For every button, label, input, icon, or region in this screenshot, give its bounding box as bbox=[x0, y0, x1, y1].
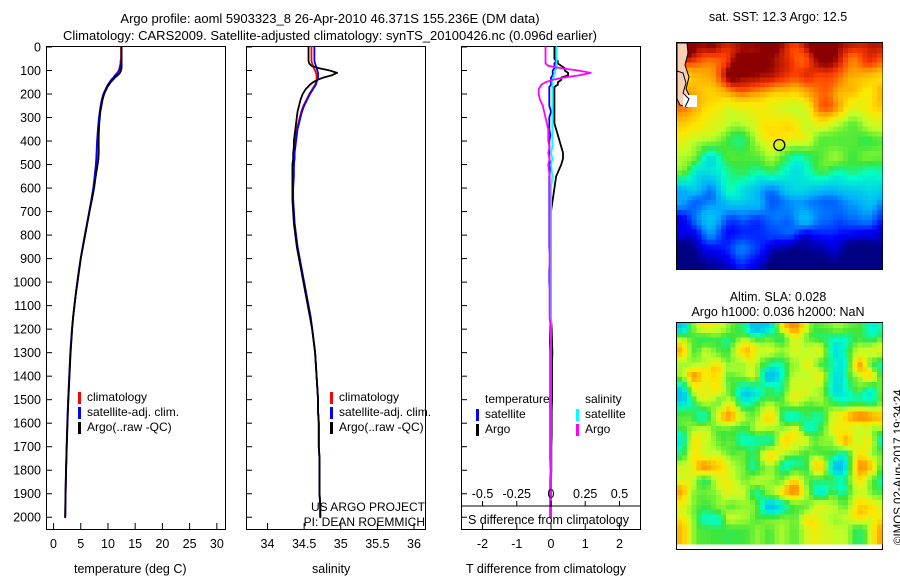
svg-text:34.5: 34.5 bbox=[292, 537, 316, 551]
svg-text:1900: 1900 bbox=[13, 487, 41, 501]
svg-text:1400: 1400 bbox=[13, 370, 41, 384]
color-swatch bbox=[78, 422, 81, 434]
svg-text:-1: -1 bbox=[511, 537, 522, 551]
difference-legend-salinity: salinity satellite Argo bbox=[576, 392, 626, 437]
svg-text:600: 600 bbox=[20, 182, 41, 196]
sst-map-panel bbox=[676, 42, 883, 270]
svg-text:0: 0 bbox=[548, 537, 555, 551]
color-swatch bbox=[78, 407, 81, 419]
legend-label: Argo(..raw -QC) bbox=[339, 420, 424, 435]
sla-map bbox=[677, 323, 882, 549]
svg-text:10: 10 bbox=[101, 537, 115, 551]
svg-text:0: 0 bbox=[50, 537, 57, 551]
salinity-plot bbox=[247, 47, 425, 529]
legend-item: Argo bbox=[576, 422, 626, 437]
legend-item: Argo(..raw -QC) bbox=[78, 420, 179, 435]
project-credit: US ARGO PROJECT PI: DEAN ROEMMICH bbox=[265, 500, 425, 530]
color-swatch bbox=[330, 392, 333, 404]
legend-label: satellite-adj. clim. bbox=[87, 405, 179, 420]
spacer bbox=[476, 394, 479, 406]
svg-text:2: 2 bbox=[616, 537, 623, 551]
legend-label: satellite-adj. clim. bbox=[339, 405, 431, 420]
legend-label: Argo(..raw -QC) bbox=[87, 420, 172, 435]
salinity-difference-axis-label: S difference from climatology bbox=[468, 513, 629, 527]
color-swatch bbox=[476, 409, 479, 421]
svg-text:35: 35 bbox=[334, 537, 348, 551]
salinity-legend: climatology satellite-adj. clim. Argo(..… bbox=[330, 390, 431, 435]
legend-item: Argo(..raw -QC) bbox=[330, 420, 431, 435]
difference-legend-temperature: temperature satellite Argo bbox=[476, 392, 550, 437]
temperature-legend: climatology satellite-adj. clim. Argo(..… bbox=[78, 390, 179, 435]
svg-text:36: 36 bbox=[407, 537, 421, 551]
color-swatch bbox=[476, 424, 479, 436]
sla-title-line-2: Argo h1000: 0.036 h2000: NaN bbox=[664, 305, 892, 320]
svg-text:34: 34 bbox=[261, 537, 275, 551]
svg-text:700: 700 bbox=[20, 205, 41, 219]
svg-text:20: 20 bbox=[155, 537, 169, 551]
title-line-1: Argo profile: aoml 5903323_8 26-Apr-2010… bbox=[0, 10, 660, 27]
title-line-2: Climatology: CARS2009. Satellite-adjuste… bbox=[0, 27, 660, 44]
svg-text:-2: -2 bbox=[477, 537, 488, 551]
color-swatch bbox=[576, 409, 579, 421]
svg-text:1500: 1500 bbox=[13, 393, 41, 407]
svg-text:500: 500 bbox=[20, 158, 41, 172]
difference-panel bbox=[461, 46, 641, 530]
argo-profile-figure: Argo profile: aoml 5903323_8 26-Apr-2010… bbox=[0, 0, 900, 580]
sla-map-panel bbox=[676, 322, 883, 550]
legend-label: climatology bbox=[87, 390, 147, 405]
sla-title-line-1: Altim. SLA: 0.028 bbox=[664, 290, 892, 305]
spacer bbox=[576, 394, 579, 406]
legend-item: satellite bbox=[476, 407, 550, 422]
svg-text:1100: 1100 bbox=[14, 299, 41, 313]
legend-label: salinity bbox=[585, 392, 622, 407]
svg-text:1000: 1000 bbox=[13, 276, 41, 290]
color-swatch bbox=[576, 424, 579, 436]
legend-item: climatology bbox=[78, 390, 179, 405]
color-swatch bbox=[330, 407, 333, 419]
legend-label: temperature bbox=[485, 392, 550, 407]
legend-label: climatology bbox=[339, 390, 399, 405]
svg-text:800: 800 bbox=[20, 229, 41, 243]
svg-text:1800: 1800 bbox=[13, 464, 41, 478]
difference-plot bbox=[462, 47, 640, 529]
color-swatch bbox=[78, 392, 81, 404]
legend-item: climatology bbox=[330, 390, 431, 405]
salinity-axis-label: salinity bbox=[312, 562, 350, 576]
legend-header: temperature bbox=[476, 392, 550, 407]
svg-text:300: 300 bbox=[20, 111, 41, 125]
svg-text:1300: 1300 bbox=[13, 346, 41, 360]
svg-text:5: 5 bbox=[77, 537, 84, 551]
svg-text:100: 100 bbox=[20, 64, 41, 78]
legend-label: satellite bbox=[485, 407, 526, 422]
svg-text:1: 1 bbox=[582, 537, 589, 551]
svg-text:1700: 1700 bbox=[13, 440, 41, 454]
legend-item: satellite bbox=[576, 407, 626, 422]
sla-map-title: Altim. SLA: 0.028 Argo h1000: 0.036 h200… bbox=[664, 290, 892, 320]
temperature-difference-axis-label: T difference from climatology bbox=[466, 562, 626, 576]
legend-label: Argo bbox=[585, 422, 610, 437]
temperature-panel bbox=[46, 46, 226, 530]
svg-text:400: 400 bbox=[20, 135, 41, 149]
legend-item: Argo bbox=[476, 422, 550, 437]
figure-title: Argo profile: aoml 5903323_8 26-Apr-2010… bbox=[0, 10, 660, 44]
sst-map bbox=[677, 43, 882, 269]
legend-header: salinity bbox=[576, 392, 626, 407]
legend-label: Argo bbox=[485, 422, 510, 437]
temperature-plot bbox=[47, 47, 225, 529]
svg-text:1200: 1200 bbox=[13, 323, 41, 337]
sst-map-title: sat. SST: 12.3 Argo: 12.5 bbox=[672, 10, 884, 25]
credit-line-2: PI: DEAN ROEMMICH bbox=[265, 515, 425, 530]
svg-text:35.5: 35.5 bbox=[365, 537, 389, 551]
svg-text:200: 200 bbox=[20, 88, 41, 102]
svg-text:900: 900 bbox=[20, 252, 41, 266]
color-swatch bbox=[330, 422, 333, 434]
legend-item: satellite-adj. clim. bbox=[330, 405, 431, 420]
legend-item: satellite-adj. clim. bbox=[78, 405, 179, 420]
salinity-panel bbox=[246, 46, 426, 530]
sst-title-text: sat. SST: 12.3 Argo: 12.5 bbox=[672, 10, 884, 25]
svg-text:2000: 2000 bbox=[13, 511, 41, 525]
temperature-axis-label: temperature (deg C) bbox=[74, 562, 187, 576]
legend-label: satellite bbox=[585, 407, 626, 422]
imos-timestamp: ©IMOS 02-Aug-2017 19:34:24 bbox=[893, 389, 900, 545]
svg-text:15: 15 bbox=[128, 537, 142, 551]
credit-line-1: US ARGO PROJECT bbox=[265, 500, 425, 515]
svg-text:1600: 1600 bbox=[13, 417, 41, 431]
svg-text:30: 30 bbox=[210, 537, 224, 551]
svg-text:25: 25 bbox=[183, 537, 197, 551]
